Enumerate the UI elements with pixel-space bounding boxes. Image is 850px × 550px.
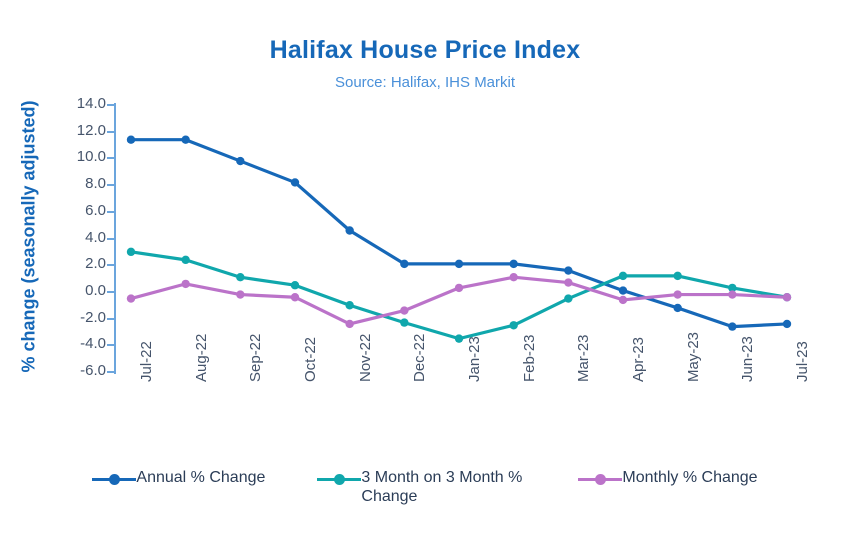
chart-container: Halifax House Price Index Source: Halifa… bbox=[0, 0, 850, 550]
data-point bbox=[673, 272, 681, 280]
data-point bbox=[345, 301, 353, 309]
data-point bbox=[400, 318, 408, 326]
legend-item-annual[interactable]: Annual % Change bbox=[92, 468, 265, 489]
series-1 bbox=[127, 136, 791, 331]
data-point bbox=[127, 248, 135, 256]
legend-label-annual: Annual % Change bbox=[136, 468, 265, 487]
series-line bbox=[131, 140, 787, 327]
legend-label-monthly: Monthly % Change bbox=[622, 468, 757, 487]
data-point bbox=[619, 272, 627, 280]
legend-swatch-monthly-icon bbox=[578, 469, 622, 489]
data-point bbox=[345, 320, 353, 328]
data-point bbox=[673, 304, 681, 312]
chart-legend: Annual % Change 3 Month on 3 Month % Cha… bbox=[0, 468, 850, 506]
data-point bbox=[400, 260, 408, 268]
data-point bbox=[509, 260, 517, 268]
data-point bbox=[619, 296, 627, 304]
legend-label-3month: 3 Month on 3 Month % Change bbox=[361, 468, 526, 506]
legend-swatch-annual-icon bbox=[92, 469, 136, 489]
data-point bbox=[236, 273, 244, 281]
data-point bbox=[509, 273, 517, 281]
data-point bbox=[455, 284, 463, 292]
data-point bbox=[291, 281, 299, 289]
data-point bbox=[455, 260, 463, 268]
data-point bbox=[127, 294, 135, 302]
data-point bbox=[564, 278, 572, 286]
data-point bbox=[400, 306, 408, 314]
data-point bbox=[181, 280, 189, 288]
data-point bbox=[783, 293, 791, 301]
data-point bbox=[728, 322, 736, 330]
legend-item-3month[interactable]: 3 Month on 3 Month % Change bbox=[317, 468, 526, 506]
legend-item-monthly[interactable]: Monthly % Change bbox=[578, 468, 757, 489]
legend-swatch-3month-icon bbox=[317, 469, 361, 489]
data-point bbox=[127, 136, 135, 144]
data-point bbox=[291, 178, 299, 186]
data-point bbox=[455, 334, 463, 342]
data-point bbox=[291, 293, 299, 301]
data-point bbox=[509, 321, 517, 329]
data-point bbox=[619, 286, 627, 294]
series-3 bbox=[127, 273, 791, 328]
data-point bbox=[236, 290, 244, 298]
data-point bbox=[673, 290, 681, 298]
data-point bbox=[728, 290, 736, 298]
data-point bbox=[564, 266, 572, 274]
data-point bbox=[564, 294, 572, 302]
data-point bbox=[236, 157, 244, 165]
data-point bbox=[345, 226, 353, 234]
data-point bbox=[181, 256, 189, 264]
data-point bbox=[181, 136, 189, 144]
data-point bbox=[783, 320, 791, 328]
